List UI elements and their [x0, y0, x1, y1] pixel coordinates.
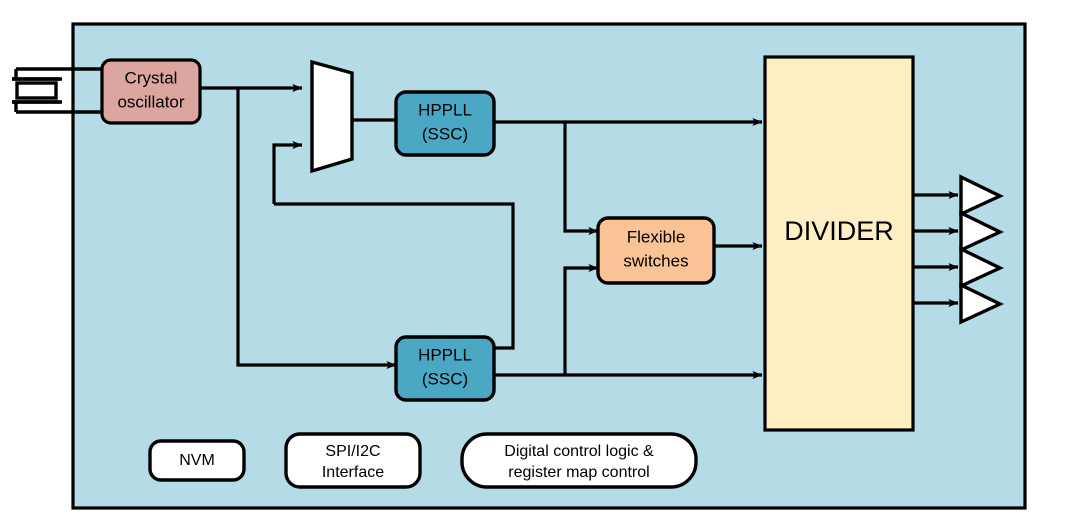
spi-i2c-label-line1: SPI/I2C	[325, 443, 380, 460]
flexible-switches-label-line1: Flexible	[627, 227, 686, 246]
spi-i2c-label-line2: Interface	[322, 464, 384, 481]
crystal-oscillator-label-line2: oscillator	[117, 92, 184, 111]
digital-control-label-line1: Digital control logic &	[504, 443, 654, 460]
mux-trapezoid-icon[interactable]	[312, 62, 352, 171]
hppll-bottom-label-line2: (SSC)	[422, 369, 468, 388]
block-diagram-svg: Crystal oscillator HPPLL (SSC) HPPLL (SS…	[0, 0, 1067, 530]
diagram-canvas: Crystal oscillator HPPLL (SSC) HPPLL (SS…	[0, 0, 1067, 530]
hppll-top-label-line2: (SSC)	[422, 124, 468, 143]
hppll-bottom-label-line1: HPPLL	[418, 345, 472, 364]
nvm-label: NVM	[179, 452, 215, 469]
crystal-oscillator-label-line1: Crystal	[125, 68, 178, 87]
crystal-body-rect	[17, 83, 56, 98]
divider-label: DIVIDER	[784, 216, 894, 246]
flexible-switches-label-line2: switches	[623, 251, 688, 270]
digital-control-label-line2: register map control	[508, 464, 649, 481]
hppll-top-label-line1: HPPLL	[418, 100, 472, 119]
